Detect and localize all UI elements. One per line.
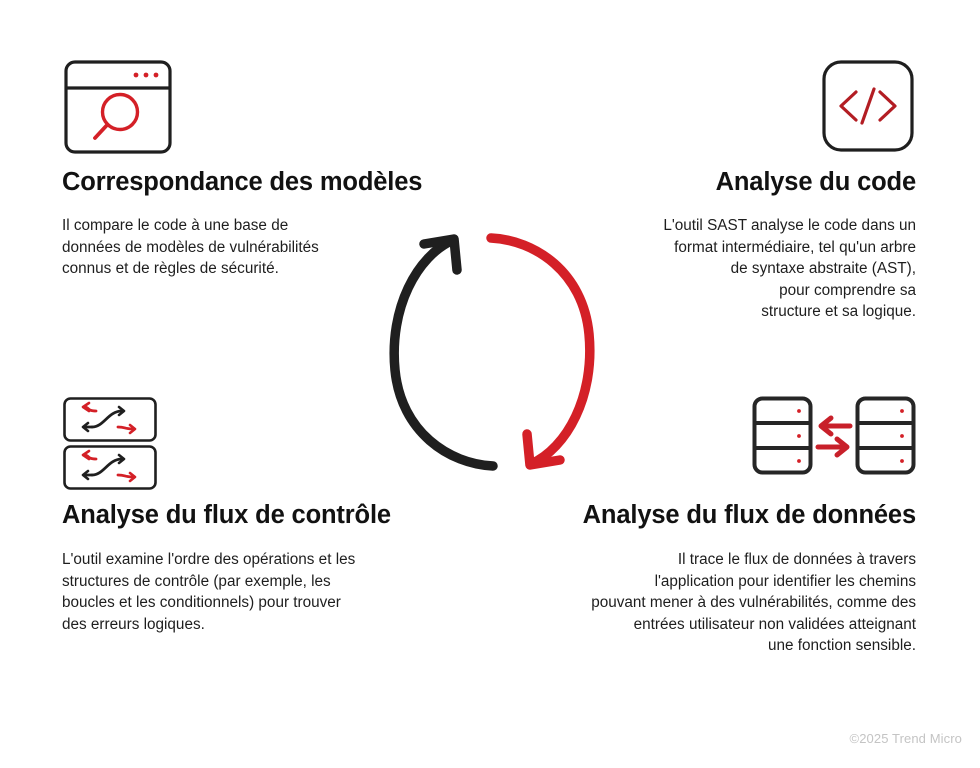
card-body-data-flow: Il trace le flux de données à travers l'… xyxy=(486,549,916,657)
card-title-data-flow: Analyse du flux de données xyxy=(486,501,916,530)
icon-slot-code-analysis xyxy=(516,58,916,162)
cycle-arrow-black-counterclockwise xyxy=(394,239,493,466)
icon-slot-pattern-matching xyxy=(62,58,492,162)
card-title-control-flow: Analyse du flux de contrôle xyxy=(62,501,492,530)
card-body-control-flow: L'outil examine l'ordre des opérations e… xyxy=(62,549,492,635)
data-flow-servers-icon xyxy=(752,396,916,480)
control-flow-arrows-icon xyxy=(62,396,162,492)
browser-window-search-icon xyxy=(62,58,174,158)
code-brackets-icon xyxy=(820,58,916,158)
infographic-canvas: Correspondance des modèles Il compare le… xyxy=(0,0,980,768)
card-title-pattern-matching: Correspondance des modèles xyxy=(62,168,492,197)
cycle-diagram xyxy=(345,218,635,486)
cycle-arrow-red-clockwise xyxy=(491,238,590,465)
card-title-code-analysis: Analyse du code xyxy=(516,168,916,197)
copyright-footer: ©2025 Trend Micro xyxy=(850,731,962,746)
